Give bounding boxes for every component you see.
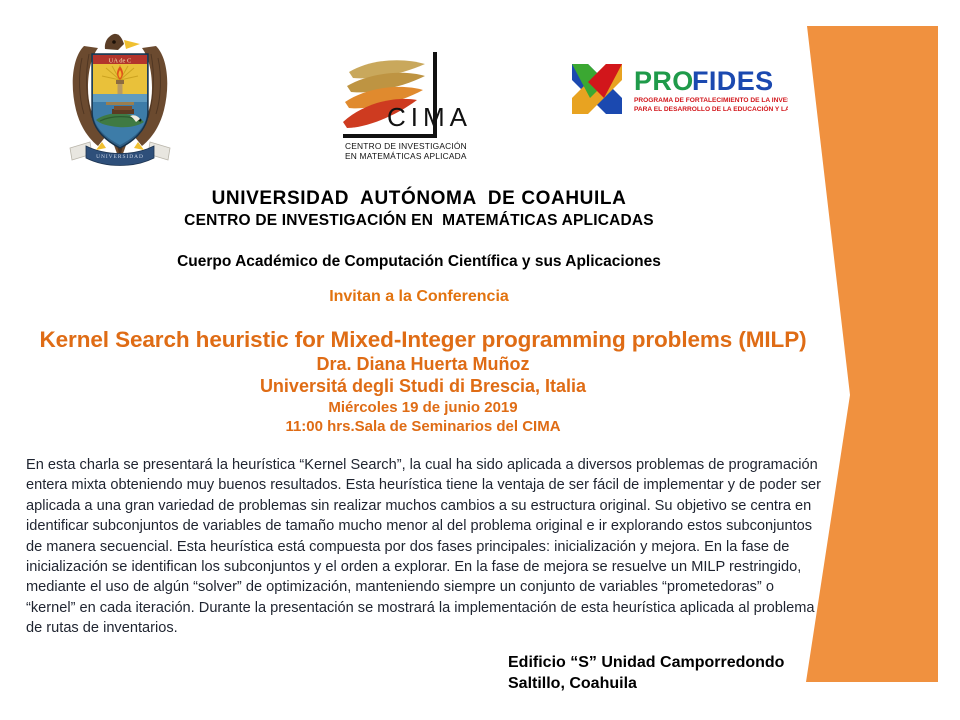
logo-band: UA de C — [0, 0, 960, 180]
address-line-2: Saltillo, Coahuila — [508, 673, 784, 694]
conference-block: Kernel Search heuristic for Mixed-Intege… — [0, 327, 846, 436]
conference-title: Kernel Search heuristic for Mixed-Intege… — [0, 327, 846, 352]
university-name: UNIVERSIDAD AUTÓNOMA DE COAHUILA — [0, 188, 838, 210]
conference-date: Miércoles 19 de junio 2019 — [0, 399, 846, 417]
center-name: CENTRO DE INVESTIGACIÓN EN MATEMÁTICAS A… — [0, 212, 838, 231]
cima-subtitle-line1: CENTRO DE INVESTIGACIÓN — [345, 141, 467, 151]
svg-text:UNIVERSIDAD: UNIVERSIDAD — [96, 154, 144, 160]
venue-address: Edificio “S” Unidad Camporredondo Saltil… — [508, 652, 784, 694]
speaker-affiliation: Universitá degli Studi di Brescia, Itali… — [0, 376, 846, 397]
heading-block: UNIVERSIDAD AUTÓNOMA DE COAHUILA CENTRO … — [0, 188, 838, 306]
conference-time-venue: 11:00 hrs.Sala de Seminarios del CIMA — [0, 418, 846, 436]
address-line-1: Edificio “S” Unidad Camporredondo — [508, 652, 784, 673]
speaker-name: Dra. Diana Huerta Muñoz — [0, 354, 846, 375]
profides-tagline-line2: PARA EL DESARROLLO DE LA EDUCACIÓN Y LA … — [634, 104, 788, 113]
profides-logo: PRO FIDES PROGRAMA DE FORTALECIMIENTO DE… — [566, 58, 788, 120]
cima-subtitle-line2: EN MATEMÁTICAS APLICADAS — [345, 151, 467, 161]
svg-text:CIMA: CIMA — [387, 102, 467, 132]
academic-body: Cuerpo Académico de Computación Científi… — [0, 253, 838, 272]
invitation-line: Invitan a la Conferencia — [0, 287, 838, 306]
svg-text:FIDES: FIDES — [692, 66, 774, 96]
profides-tagline-line1: PROGRAMA DE FORTALECIMIENTO DE LA INVEST… — [634, 95, 788, 104]
svg-text:PRO: PRO — [634, 66, 694, 96]
abstract-text: En esta charla se presentará la heurísti… — [26, 455, 826, 639]
svg-text:UA de C: UA de C — [109, 57, 132, 64]
uadec-coat-of-arms-logo: UA de C — [62, 28, 178, 170]
cima-logo: CIMA CENTRO DE INVESTIGACIÓN EN MATEMÁTI… — [333, 52, 467, 164]
